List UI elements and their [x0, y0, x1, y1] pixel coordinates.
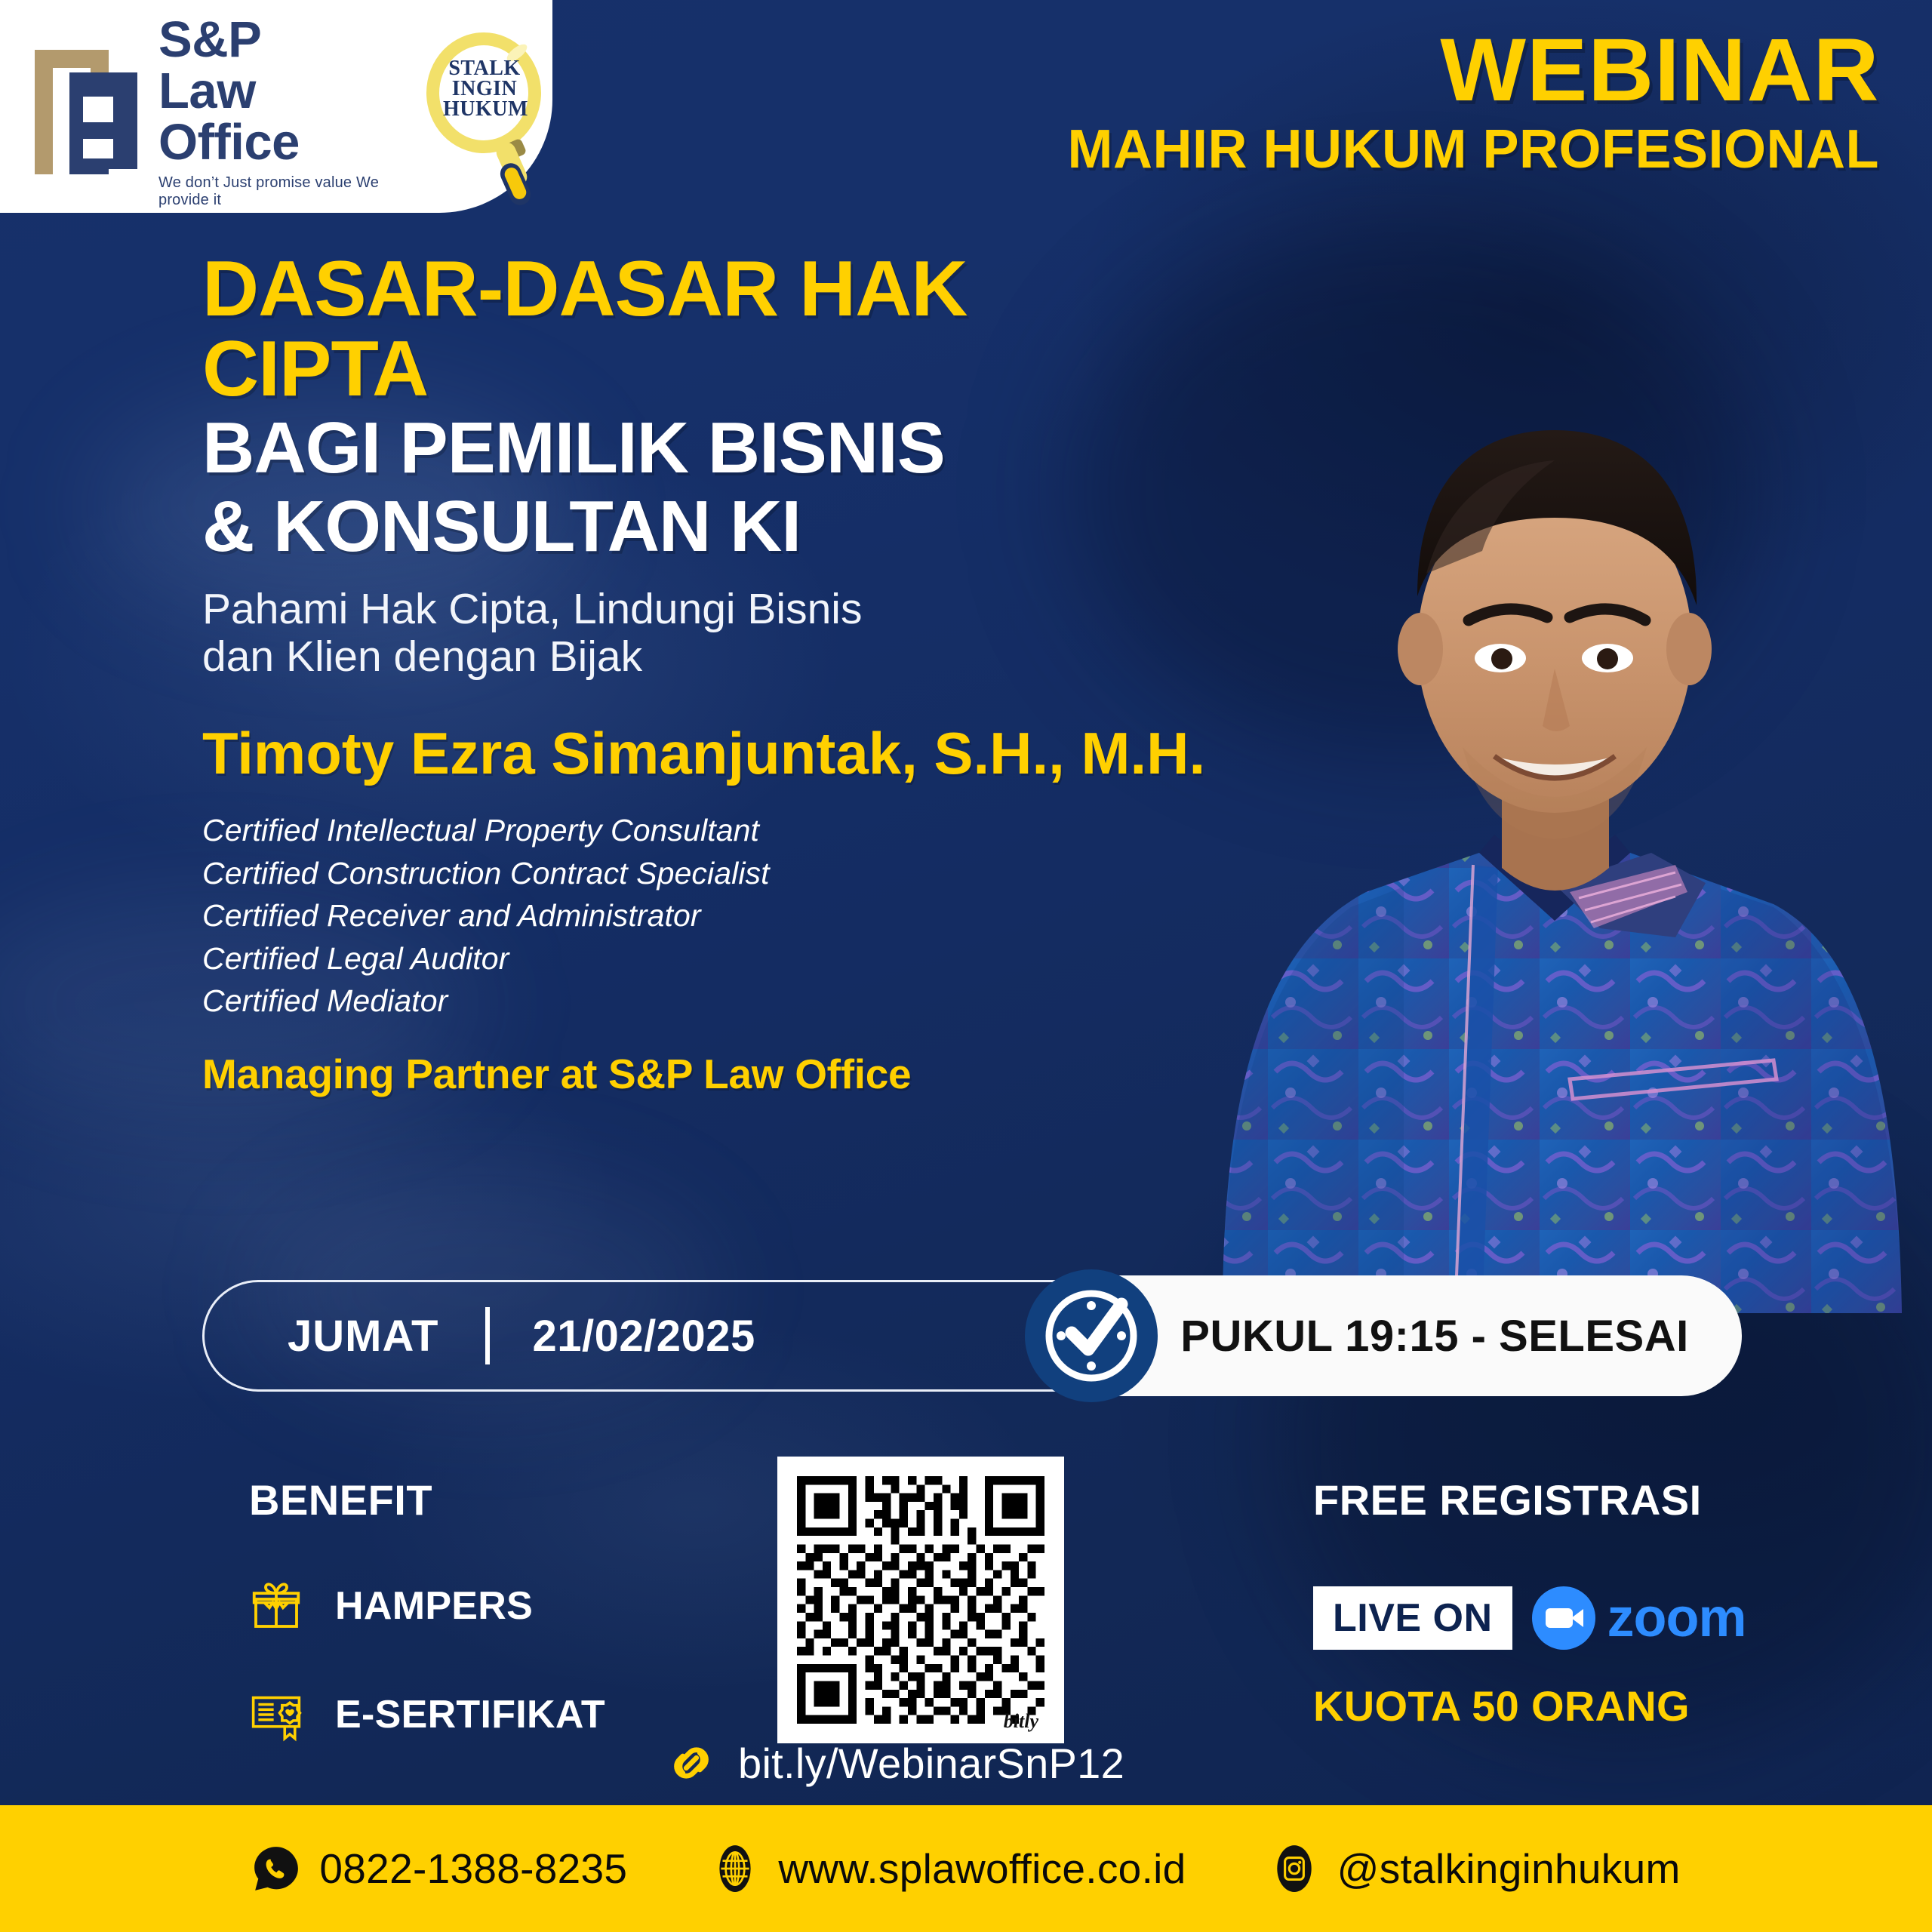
benefit-label: HAMPERS	[335, 1583, 533, 1629]
live-platform-row: LIVE ON zoom	[1313, 1586, 1746, 1650]
credentials-list: Certified Intellectual Property Consulta…	[202, 809, 1206, 1023]
benefit-item: E-SERTIFIKAT	[249, 1687, 605, 1742]
benefit-section: BENEFIT HAMPERS	[249, 1475, 605, 1742]
zoom-logo: zoom	[1532, 1586, 1746, 1650]
website-url[interactable]: www.splawoffice.co.id	[778, 1844, 1186, 1893]
speaker-role: Managing Partner at S&P Law Office	[202, 1050, 1206, 1098]
bitly-watermark: bitly	[1004, 1710, 1038, 1733]
benefit-title: BENEFIT	[249, 1475, 605, 1524]
credential-item: Certified Intellectual Property Consulta…	[202, 809, 1206, 852]
poster-header: WEBINAR MAHIR HUKUM PROFESIONAL	[1068, 26, 1879, 180]
magnifier-text-line2: INGIN	[443, 78, 526, 99]
contact-item-website[interactable]: www.splawoffice.co.id	[710, 1844, 1186, 1894]
brand-wordmark: S&P Law Office We don’t Just promise val…	[158, 14, 390, 210]
benefit-label: E-SERTIFIKAT	[335, 1692, 605, 1737]
title-line-1: DASAR-DASAR HAK CIPTA	[202, 249, 1206, 409]
brand-logo-card: S&P Law Office We don’t Just promise val…	[0, 0, 552, 213]
schedule-time: PUKUL 19:15 - SELESAI	[1112, 1311, 1688, 1361]
registration-section: FREE REGISTRASI LIVE ON zoom KUOTA 50 OR…	[1313, 1475, 1746, 1730]
brand-tagline: We don’t Just promise value We provide i…	[158, 174, 390, 209]
live-on-badge: LIVE ON	[1313, 1586, 1512, 1650]
short-link-text[interactable]: bit.ly/WebinarSnP12	[738, 1739, 1124, 1788]
header-title: WEBINAR	[1051, 26, 1879, 115]
tagline-line-2: dan Klien dengan Bijak	[202, 633, 1206, 681]
credential-item: Certified Construction Contract Speciali…	[202, 852, 1206, 895]
instagram-icon	[1269, 1844, 1319, 1894]
tagline: Pahami Hak Cipta, Lindungi Bisnis dan Kl…	[202, 586, 1206, 682]
tagline-line-1: Pahami Hak Cipta, Lindungi Bisnis	[202, 586, 1206, 634]
credential-item: Certified Mediator	[202, 980, 1206, 1023]
credential-item: Certified Legal Auditor	[202, 937, 1206, 980]
main-content: DASAR-DASAR HAK CIPTA BAGI PEMILIK BISNI…	[202, 249, 1206, 1098]
magnifier-text-line3: HUKUM	[443, 99, 526, 119]
registration-title: FREE REGISTRASI	[1313, 1475, 1746, 1524]
magnifier-text-line1: STALK	[443, 58, 526, 78]
magnifying-glass-icon: STALK INGIN HUKUM	[420, 28, 552, 190]
brand-name-line2: Law Office	[158, 66, 390, 169]
speaker-name: Timoty Ezra Simanjuntak, S.H., M.H.	[202, 715, 1206, 792]
time-pill: PUKUL 19:15 - SELESAI	[1060, 1275, 1742, 1396]
schedule-separator	[485, 1307, 490, 1364]
qr-code-card[interactable]: bitly	[777, 1457, 1064, 1743]
zoom-wordmark: zoom	[1607, 1591, 1746, 1645]
brand-name-line1: S&P	[158, 14, 390, 66]
benefit-item: HAMPERS	[249, 1579, 605, 1633]
short-link-row[interactable]: bit.ly/WebinarSnP12	[664, 1736, 1124, 1790]
speaker-photo	[1177, 325, 1932, 1313]
zoom-camera-icon	[1532, 1586, 1595, 1650]
contact-item-instagram[interactable]: @stalkinginhukum	[1269, 1844, 1681, 1894]
instagram-handle[interactable]: @stalkinginhukum	[1337, 1844, 1681, 1893]
globe-icon	[710, 1844, 760, 1894]
title-line-2: BAGI PEMILIK BISNIS	[202, 409, 1206, 488]
header-subtitle: MAHIR HUKUM PROFESIONAL	[1068, 121, 1879, 180]
credential-item: Certified Receiver and Administrator	[202, 894, 1206, 937]
quota-text: KUOTA 50 ORANG	[1313, 1681, 1746, 1730]
gift-icon	[249, 1579, 303, 1633]
certificate-icon	[249, 1687, 303, 1742]
webinar-poster: S&P Law Office We don’t Just promise val…	[0, 0, 1932, 1932]
title-line-3: & KONSULTAN KI	[202, 488, 1206, 566]
clock-check-icon	[1025, 1269, 1158, 1402]
qr-code-image[interactable]	[797, 1476, 1044, 1724]
schedule-bar: JUMAT 21/02/2025 PUKUL 19:15 - SELESAI	[202, 1275, 1742, 1396]
sp-monogram-icon	[35, 50, 140, 174]
whatsapp-icon	[251, 1844, 301, 1894]
phone-number[interactable]: 0822-1388-8235	[319, 1844, 627, 1893]
schedule-day: JUMAT	[288, 1311, 438, 1361]
chain-link-icon	[664, 1736, 718, 1790]
contact-footer: 0822-1388-8235 www.splawoffice.co.id	[0, 1805, 1932, 1932]
contact-item-phone[interactable]: 0822-1388-8235	[251, 1844, 627, 1894]
schedule-date: 21/02/2025	[532, 1311, 755, 1361]
